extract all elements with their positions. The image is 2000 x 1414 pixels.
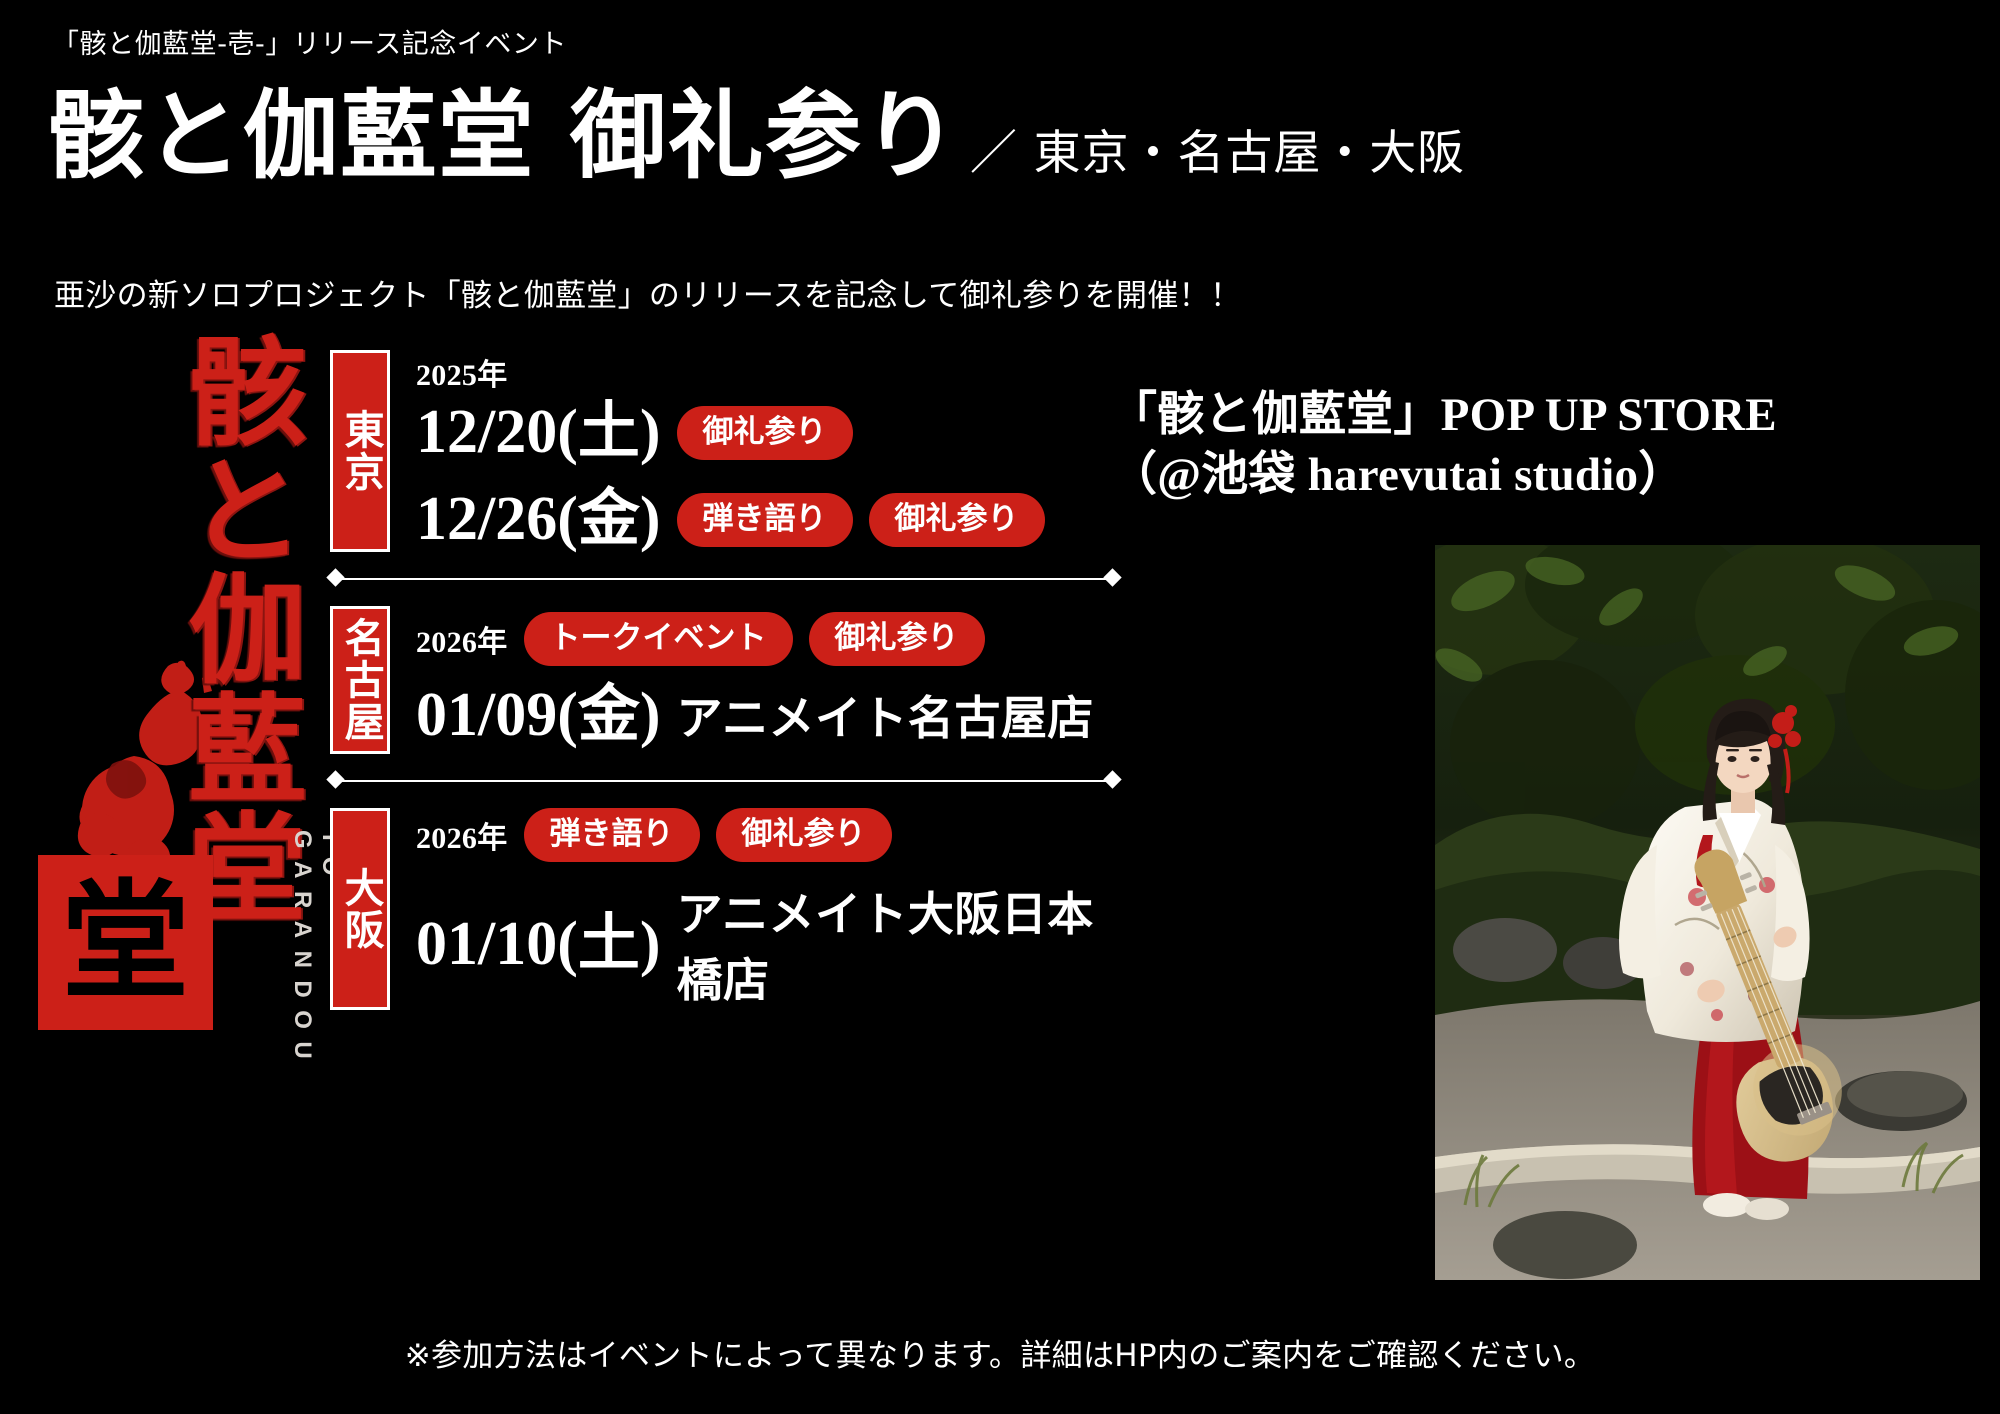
event-block-tokyo: 東京 2025年 12/20(土) 御礼参り 12/26(金) 弾き語り 御礼参… (330, 350, 1110, 552)
poster-root: 「骸と伽藍堂-壱-」リリース記念イベント 骸と伽藍堂 御礼参り ／ 東京・名古屋… (0, 0, 2000, 1414)
event-date: 01/10(土) (416, 912, 661, 977)
event-badge[interactable]: 御礼参り (677, 406, 853, 460)
event-badge[interactable]: 御礼参り (809, 612, 985, 666)
artist-photo-illustration (1435, 545, 1980, 1280)
popup-store-line2: （@池袋 harevutai studio） (1110, 445, 1910, 505)
event-year: 2025年 (416, 350, 508, 394)
event-block-osaka: 大阪 2026年 弾き語り 御礼参り 01/10(土) アニメイト大阪日本橋店 (330, 808, 1110, 1010)
logo-seal: 堂 (38, 855, 213, 1030)
section-divider (338, 578, 1110, 580)
page-title: 骸と伽藍堂 御礼参り (48, 88, 960, 184)
section-divider (338, 780, 1110, 782)
event-venue: アニメイト名古屋店 (677, 682, 1094, 748)
title-cities: ／ 東京・名古屋・大阪 (970, 130, 1465, 184)
event-block-nagoya: 名古屋 2026年 トークイベント 御礼参り 01/09(金) アニメイト名古屋… (330, 606, 1110, 754)
event-badge[interactable]: 弾き語り (524, 808, 700, 862)
logo-seal-char: 堂 (61, 879, 189, 1007)
event-date: 01/09(金) (416, 683, 661, 748)
event-badge[interactable]: 御礼参り (869, 493, 1045, 547)
event-badge[interactable]: トークイベント (524, 612, 793, 666)
event-row: 12/20(土) 御礼参り (416, 400, 1110, 465)
schedule-list: 東京 2025年 12/20(土) 御礼参り 12/26(金) 弾き語り 御礼参… (330, 350, 1110, 1010)
event-body-nagoya: 2026年 トークイベント 御礼参り 01/09(金) アニメイト名古屋店 (390, 606, 1110, 754)
footnote-text: ※参加方法はイベントによって異なります。詳細はHP内のご案内をご確認ください。 (0, 1330, 2000, 1375)
event-badge[interactable]: 弾き語り (677, 493, 853, 547)
event-row: 2025年 (416, 350, 1110, 394)
event-date: 12/26(金) (416, 487, 661, 552)
event-row: 12/26(金) 弾き語り 御礼参り (416, 487, 1110, 552)
event-date: 12/20(土) (416, 400, 661, 465)
lede-text: 亜沙の新ソロプロジェクト「骸と伽藍堂」のリリースを記念して御礼参りを開催！！ (54, 270, 1241, 315)
eyebrow-text: 「骸と伽藍堂-壱-」リリース記念イベント (52, 22, 567, 61)
city-tag-osaka: 大阪 (330, 808, 390, 1010)
event-row: 01/10(土) アニメイト大阪日本橋店 (416, 878, 1110, 1010)
event-body-osaka: 2026年 弾き語り 御礼参り 01/10(土) アニメイト大阪日本橋店 (390, 808, 1110, 1010)
event-year: 2026年 (416, 617, 508, 661)
event-row: 2026年 弾き語り 御礼参り (416, 808, 1110, 862)
event-row: 01/09(金) アニメイト名古屋店 (416, 682, 1110, 748)
city-tag-tokyo: 東京 (330, 350, 390, 552)
event-row: 2026年 トークイベント 御礼参り (416, 612, 1110, 666)
event-badge[interactable]: 御礼参り (716, 808, 892, 862)
artist-photo (1435, 545, 1980, 1280)
event-year: 2026年 (416, 813, 508, 857)
popup-store-line1: 「骸と伽藍堂」POP UP STORE (1110, 385, 1910, 445)
popup-store-note: 「骸と伽藍堂」POP UP STORE （@池袋 harevutai studi… (1110, 385, 1910, 505)
city-tag-nagoya: 名古屋 (330, 606, 390, 754)
event-body-tokyo: 2025年 12/20(土) 御礼参り 12/26(金) 弾き語り 御礼参り (390, 350, 1110, 552)
event-venue: アニメイト大阪日本橋店 (677, 878, 1110, 1010)
title-row: 骸と伽藍堂 御礼参り ／ 東京・名古屋・大阪 (48, 88, 1465, 184)
